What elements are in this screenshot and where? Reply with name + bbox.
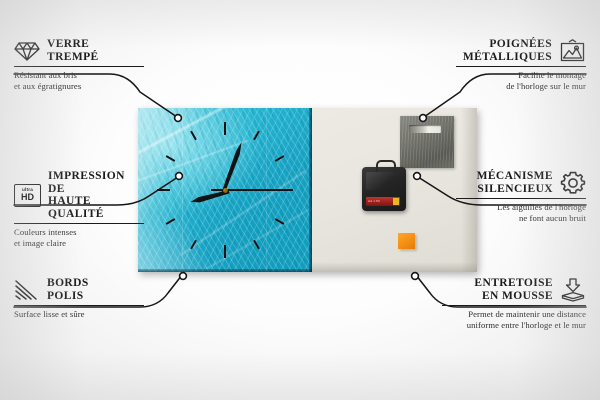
callout-title: BORDS POLIS [47, 277, 89, 302]
callout-subtitle: Résistant aux bris et aux égratignures [14, 70, 144, 91]
callout-header: POIGNÉES MÉTALLIQUES [456, 38, 586, 63]
callout-subtitle: Couleurs intenses et image claire [14, 227, 144, 248]
clock-front-panel [138, 108, 312, 272]
clock-tick [253, 131, 260, 141]
mechanism-face [366, 172, 402, 190]
picture-hanger-icon [559, 39, 586, 63]
callout-verre-trempe: VERRE TREMPÉ Résistant aux bris et aux é… [14, 38, 144, 91]
clock-tick [190, 131, 197, 141]
callout-rule [456, 66, 586, 67]
callout-title: MÉCANISME SILENCIEUX [477, 170, 553, 195]
callout-header: ultra HD IMPRESSION DE HAUTE QUALITÉ [14, 170, 144, 220]
connector-dot [180, 273, 187, 280]
product-image: AA 1.5V [138, 108, 477, 272]
clock-tick [275, 218, 285, 225]
callout-header: MÉCANISME SILENCIEUX [456, 170, 586, 195]
callout-rule [442, 305, 586, 306]
callout-subtitle: Surface lisse et sûre [14, 309, 144, 320]
callout-subtitle: Facilite le montage de l'horloge sur le … [456, 70, 586, 91]
mechanism-hanger-loop [376, 160, 396, 172]
clock-mechanism: AA 1.5V [362, 167, 406, 211]
clock-tick [157, 189, 170, 191]
callout-header: BORDS POLIS [14, 277, 144, 302]
polished-edge-icon [14, 279, 40, 301]
foam-spacer [398, 233, 415, 249]
callout-subtitle: Permet de maintenir une distance uniform… [442, 309, 586, 330]
callout-title: POIGNÉES MÉTALLIQUES [463, 38, 552, 63]
clock-tick [224, 122, 226, 135]
panel-shading [312, 262, 477, 272]
battery-plus-terminal [393, 198, 399, 205]
callout-impression-haute-qualite: ultra HD IMPRESSION DE HAUTE QUALITÉ Cou… [14, 170, 144, 248]
clock-tick [275, 155, 285, 162]
battery: AA 1.5V [366, 197, 400, 206]
callout-rule [14, 305, 144, 306]
callout-poignees-metalliques: POIGNÉES MÉTALLIQUES Facilite le montage… [456, 38, 586, 91]
connector-dot [412, 273, 419, 280]
metal-bracket [400, 116, 454, 168]
clock-tick [190, 240, 197, 250]
bracket-slot [409, 125, 441, 133]
foam-spacer-icon [560, 278, 586, 302]
callout-rule [14, 223, 144, 224]
gear-icon [560, 171, 586, 195]
infographic-canvas: AA 1.5V [0, 0, 600, 400]
clock-back-panel: AA 1.5V [312, 108, 477, 272]
callout-title: VERRE TREMPÉ [47, 38, 99, 63]
callout-rule [456, 198, 586, 199]
ultra-hd-icon: ultra HD [14, 184, 41, 207]
callout-mecanisme-silencieux: MÉCANISME SILENCIEUX Les aiguilles de l'… [456, 170, 586, 223]
callout-title: IMPRESSION DE HAUTE QUALITÉ [48, 170, 144, 220]
battery-label: AA 1.5V [368, 199, 380, 203]
callout-subtitle: Les aiguilles de l'horloge ne font aucun… [456, 202, 586, 223]
callout-title: ENTRETOISE EN MOUSSE [474, 277, 553, 302]
callout-bords-polis: BORDS POLIS Surface lisse et sûre [14, 277, 144, 320]
clock-tick [166, 218, 176, 225]
callout-header: ENTRETOISE EN MOUSSE [442, 277, 586, 302]
clock-tick [224, 245, 226, 258]
clock-center-pin [223, 188, 228, 193]
callout-entretoise-en-mousse: ENTRETOISE EN MOUSSE Permet de maintenir… [442, 277, 586, 330]
clock-tick [166, 155, 176, 162]
callout-rule [14, 66, 144, 67]
diamond-icon [14, 40, 40, 62]
callout-header: VERRE TREMPÉ [14, 38, 144, 63]
clock-tick [253, 240, 260, 250]
